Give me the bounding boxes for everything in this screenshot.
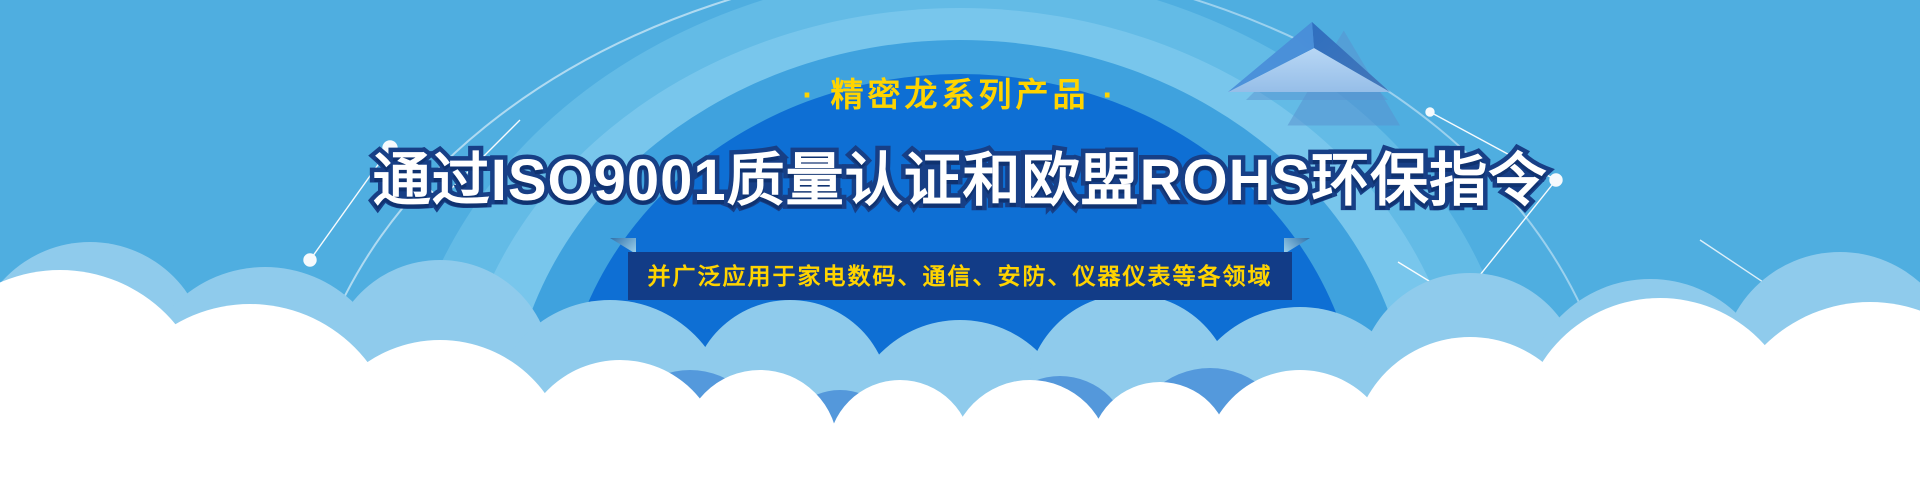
ribbon-text: 并广泛应用于家电数码、通信、安防、仪器仪表等各领域 bbox=[648, 252, 1273, 300]
ribbon-body: 并广泛应用于家电数码、通信、安防、仪器仪表等各领域 bbox=[628, 252, 1292, 300]
ribbon-banner: 并广泛应用于家电数码、通信、安防、仪器仪表等各领域 bbox=[610, 238, 1310, 300]
promo-banner: · 精密龙系列产品 · 通过ISO9001质量认证和欧盟ROHS环保指令 并广泛… bbox=[0, 0, 1920, 480]
